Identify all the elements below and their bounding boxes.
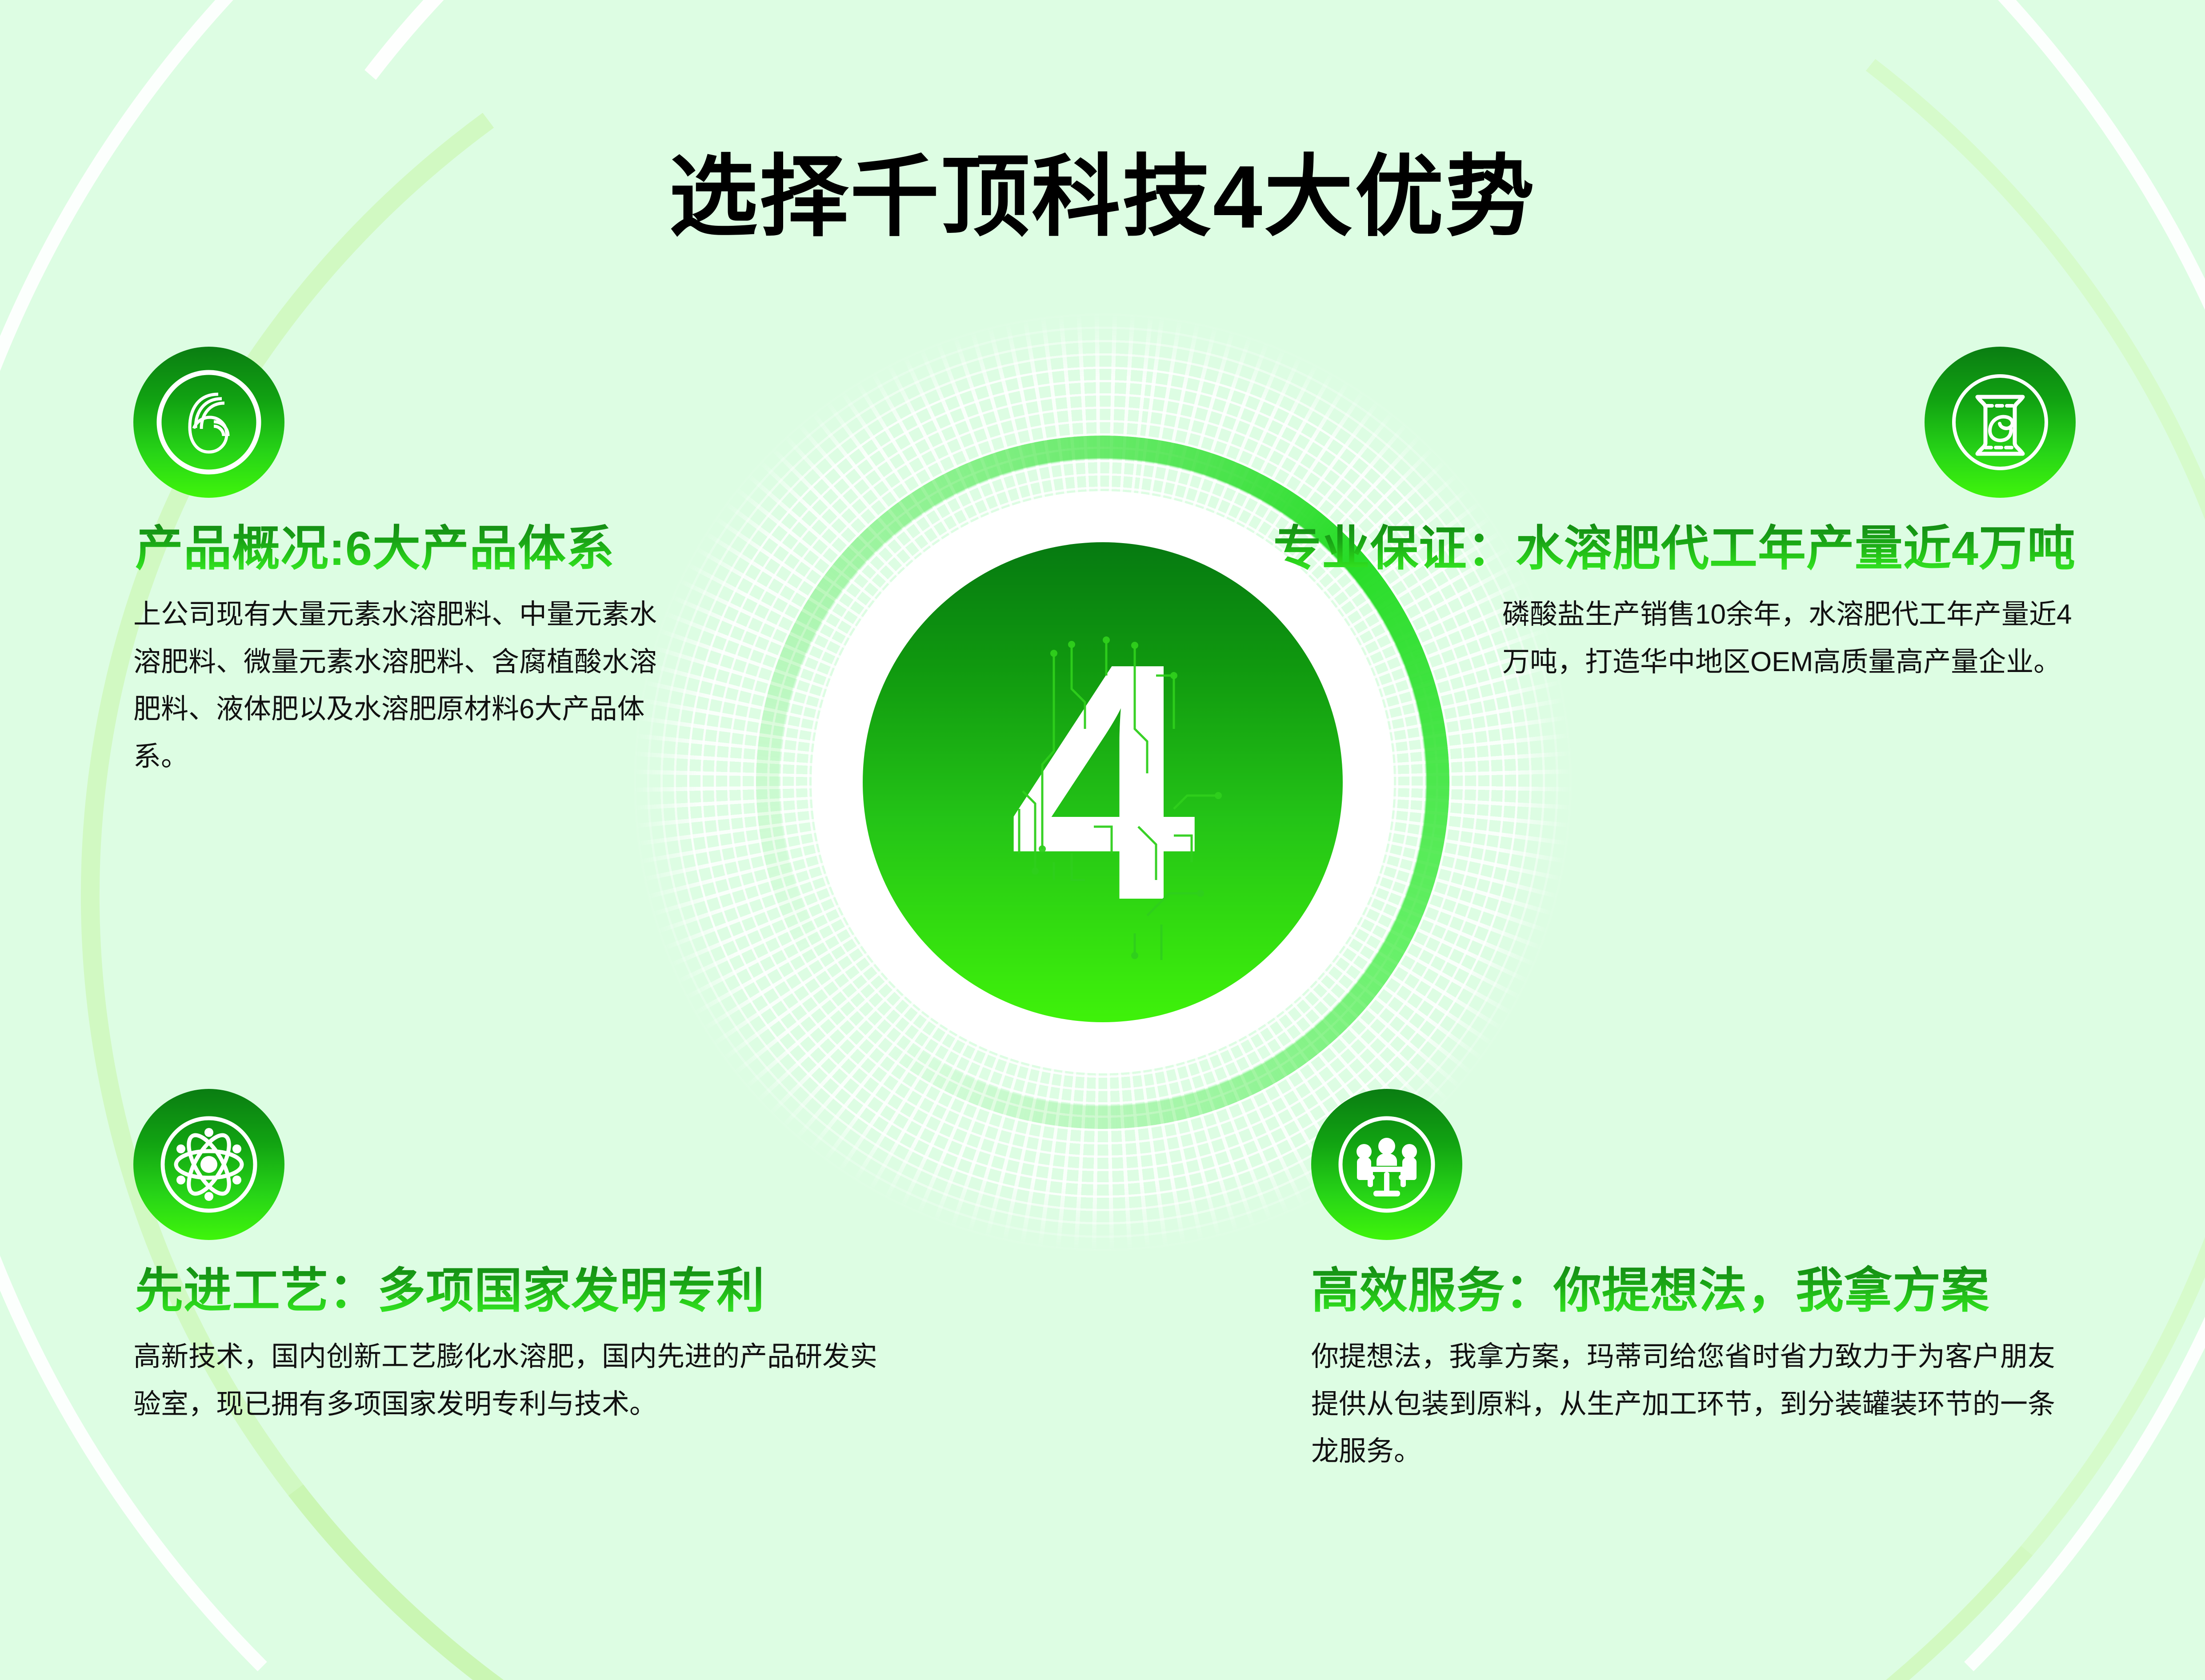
infographic-canvas: 选择千顶科技4大优势 4 [0, 0, 2205, 1680]
atom-glyph [152, 1107, 266, 1222]
center-number: 4 [1008, 613, 1197, 951]
advantage-headline: 产品概况:6大产品体系 [135, 521, 702, 576]
atom-icon [133, 1089, 284, 1240]
advantage-body: 高新技术，国内创新工艺膨化水溶肥，国内先进的产品研发实验室，现已拥有多项国家发明… [133, 1333, 884, 1428]
meeting-team-glyph [1329, 1107, 1444, 1222]
advantage-body: 上公司现有大量元素水溶肥料、中量元素水溶肥料、微量元素水溶肥料、含腐植酸水溶肥料… [133, 591, 676, 781]
advantage-body: 你提想法，我拿方案，玛蒂司给您省时省力致力于为客户朋友提供从包装到原料，从生产加… [1311, 1333, 2058, 1476]
advantage-headline: 先进工艺：多项国家发明专利 [135, 1263, 916, 1318]
meeting-team-icon [1311, 1089, 1462, 1240]
advantage-body: 磷酸盐生产销售10余年，水溶肥代工年产量近4万吨，打造华中地区OEM高质量高产量… [1502, 591, 2076, 686]
number-six-glyph [152, 365, 266, 480]
advantage-card-bottom-right[interactable]: 高效服务：你提想法，我拿方案 你提想法，我拿方案，玛蒂司给您省时省力致力于为客户… [1311, 1089, 2076, 1476]
advantage-card-bottom-left[interactable]: 先进工艺：多项国家发明专利 高新技术，国内创新工艺膨化水溶肥，国内先进的产品研发… [133, 1089, 916, 1428]
advantage-headline: 专业保证：水溶肥代工年产量近4万吨 [1196, 521, 2076, 576]
page-title: 选择千顶科技4大优势 [0, 148, 2205, 246]
fertilizer-bag-icon [1925, 347, 2076, 498]
advantage-card-top-left[interactable]: 产品概况:6大产品体系 上公司现有大量元素水溶肥料、中量元素水溶肥料、微量元素水… [133, 347, 702, 781]
advantage-headline: 高效服务：你提想法，我拿方案 [1311, 1263, 2076, 1318]
number-six-icon [133, 347, 284, 498]
fertilizer-bag-glyph [1943, 365, 2057, 480]
advantage-card-top-right[interactable]: 专业保证：水溶肥代工年产量近4万吨 磷酸盐生产销售10余年，水溶肥代工年产量近4… [1196, 347, 2076, 686]
